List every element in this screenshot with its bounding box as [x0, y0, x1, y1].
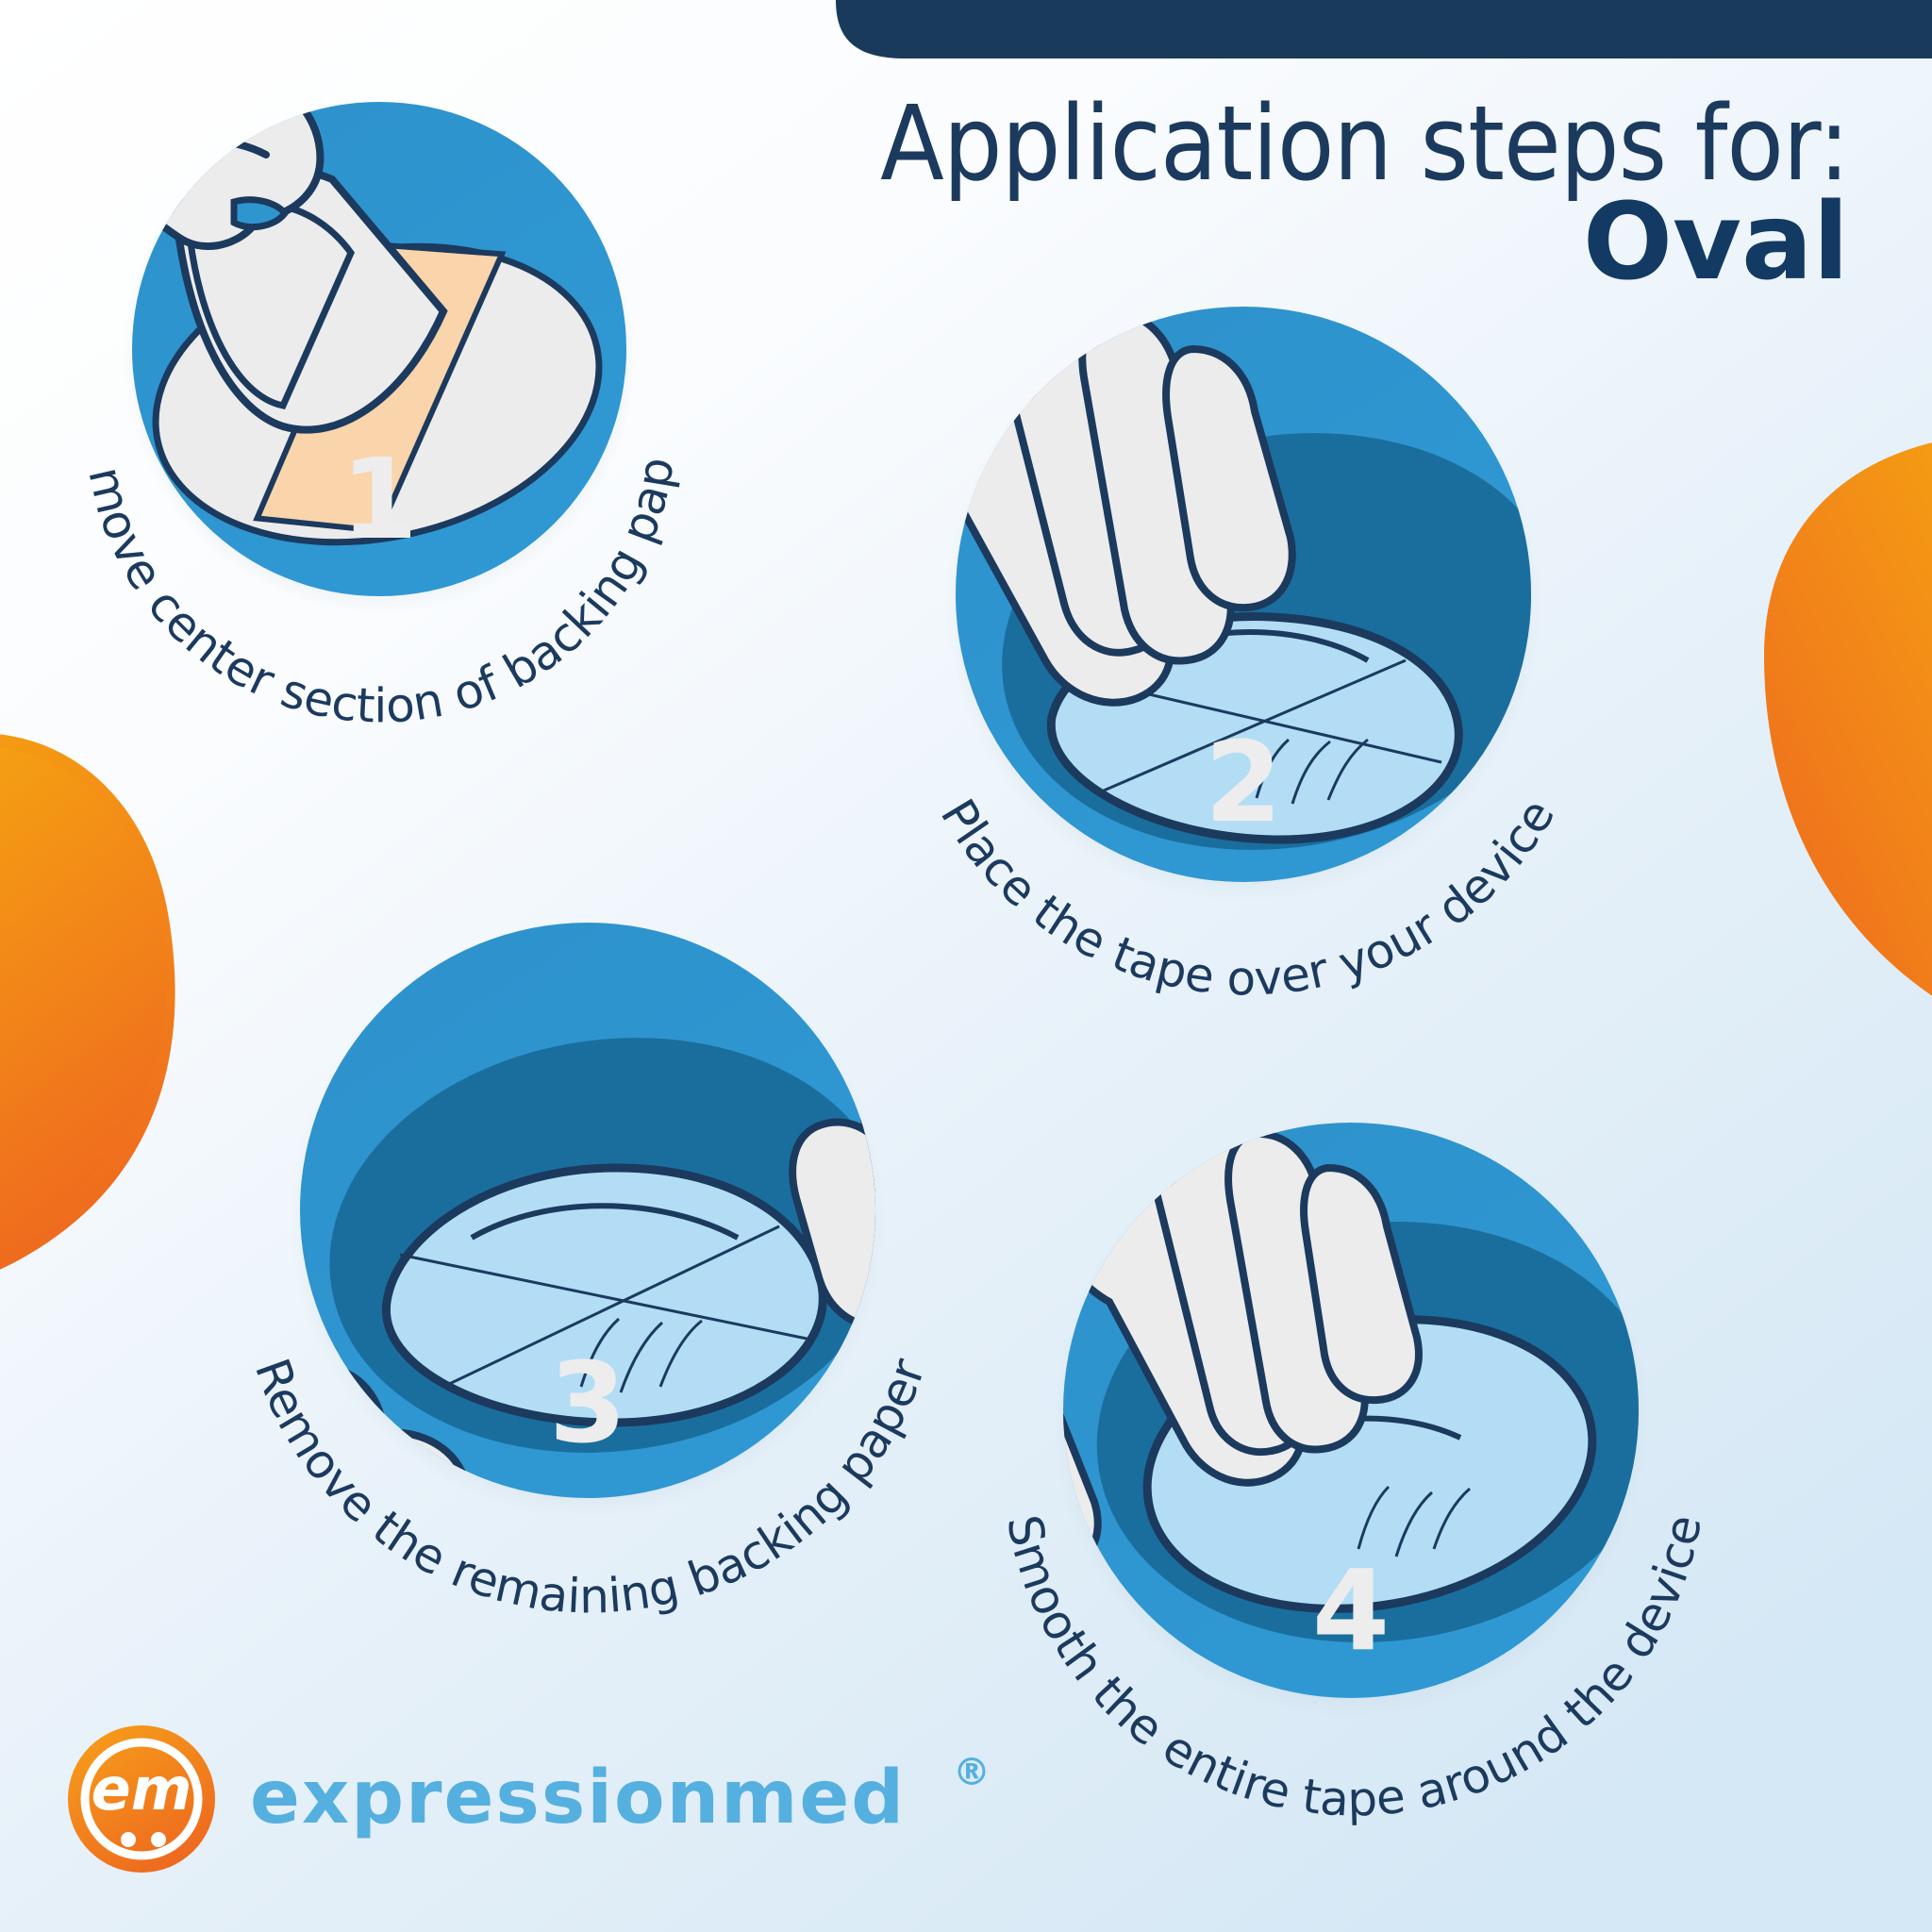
- step-4-number: 4: [1312, 1545, 1390, 1675]
- page-title-line2: Oval: [1583, 181, 1849, 304]
- brand-wordmark: expressionmed: [250, 1756, 906, 1840]
- step-2-number: 2: [1205, 717, 1282, 847]
- logo-mark-letters: em: [92, 1755, 192, 1824]
- step-1-number: 1: [341, 434, 418, 564]
- infographic-canvas: Application steps for: Oval 1 Remove cen…: [0, 0, 1932, 1932]
- brand-trademark: ®: [953, 1751, 991, 1794]
- header-bar: [836, 0, 1932, 58]
- step-3-number: 3: [549, 1338, 626, 1468]
- logo-face-dot-left: [121, 1832, 136, 1847]
- logo-face-dot-right: [151, 1832, 166, 1847]
- infographic-svg: Application steps for: Oval 1 Remove cen…: [0, 0, 1932, 1932]
